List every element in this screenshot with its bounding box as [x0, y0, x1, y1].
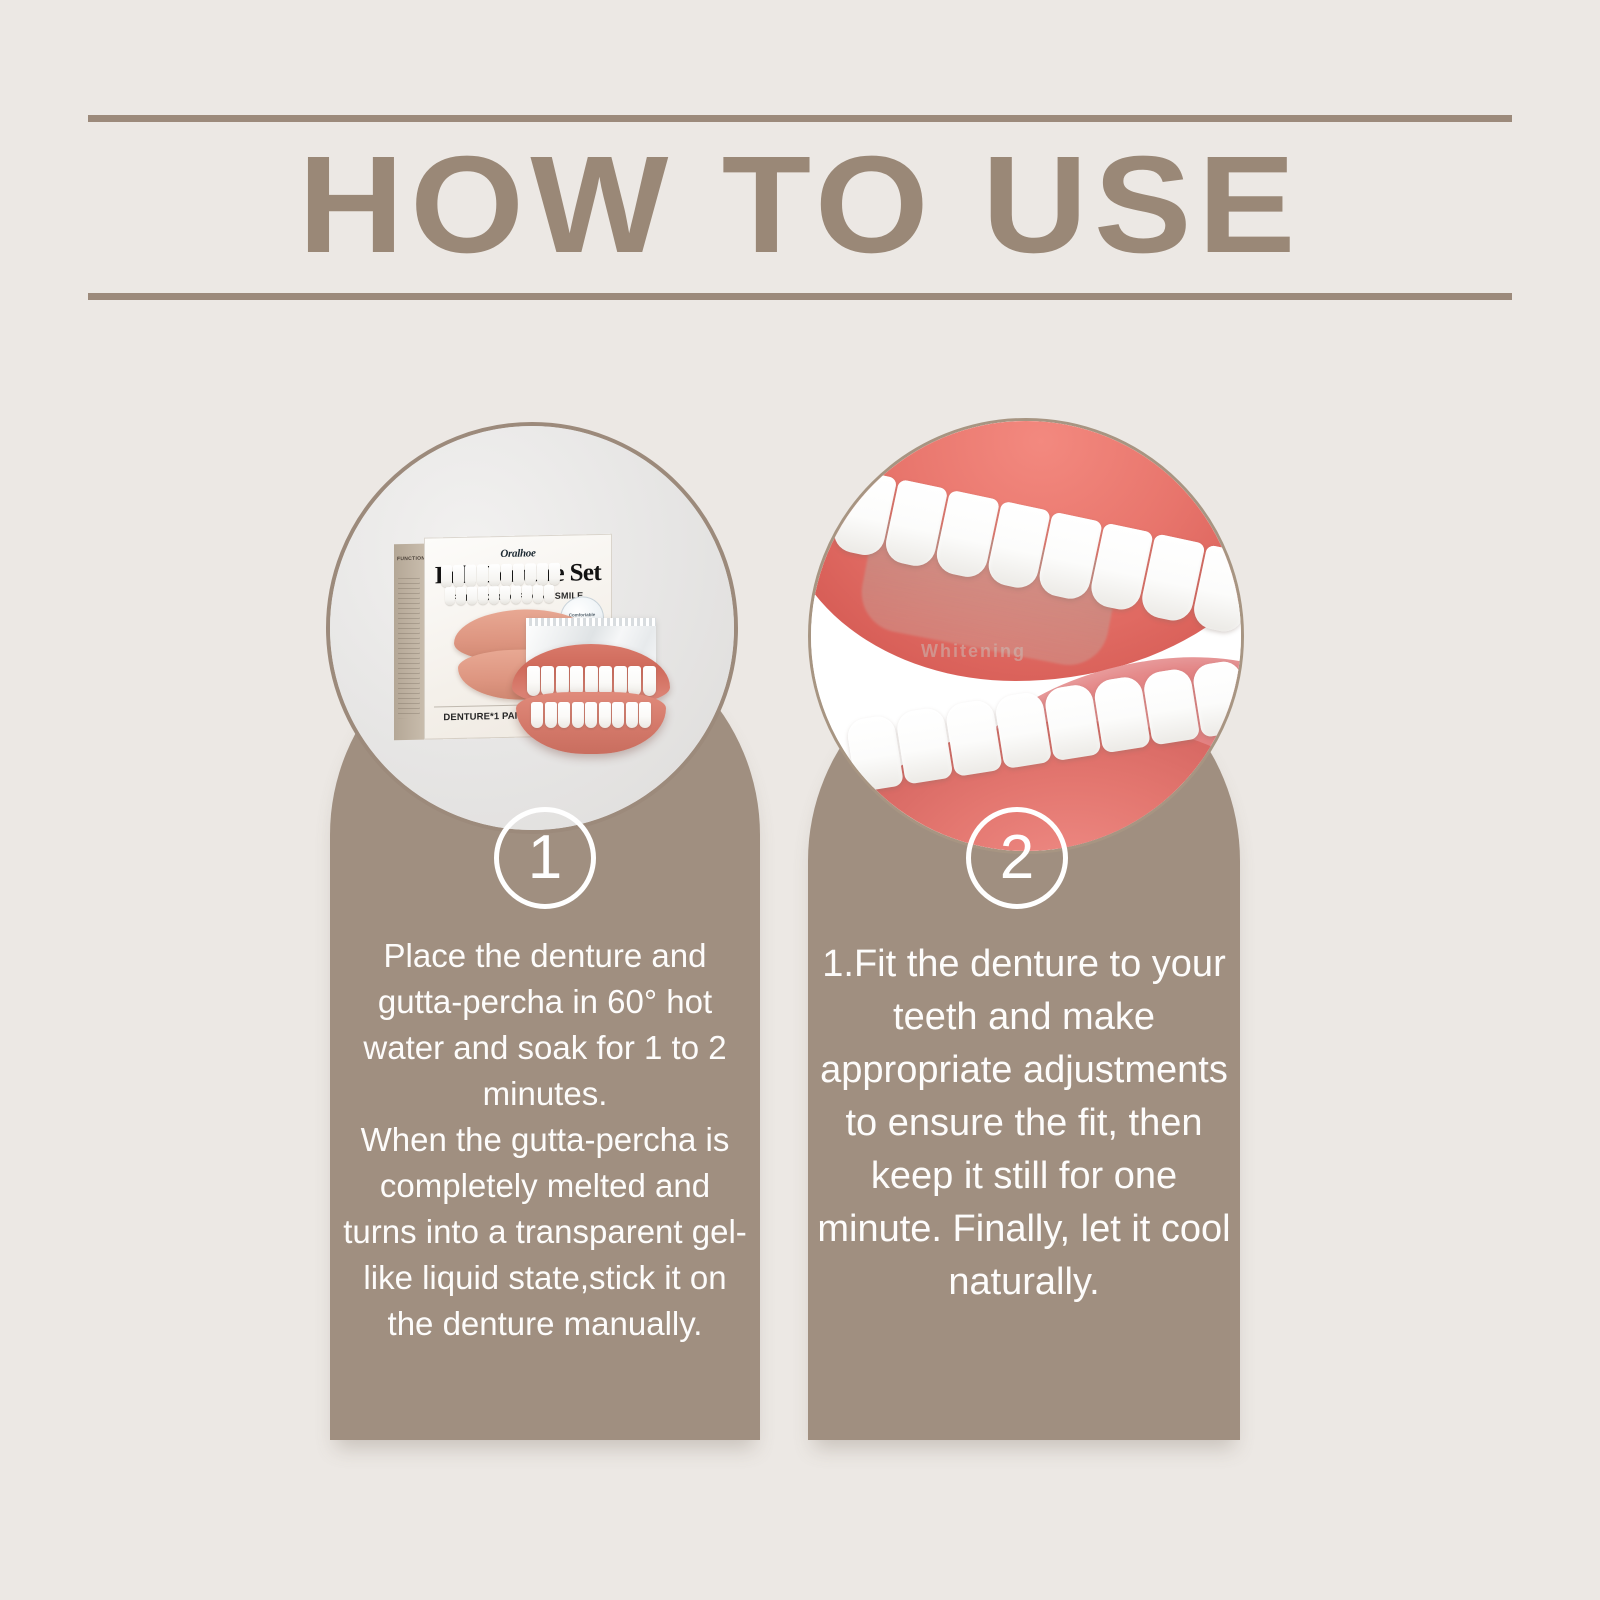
tooth: [545, 702, 557, 728]
tooth: [525, 563, 536, 585]
tooth: [1191, 659, 1244, 738]
tooth: [639, 702, 651, 728]
tooth: [895, 706, 954, 785]
tooth: [445, 587, 455, 605]
tooth: [467, 587, 477, 605]
tooth: [994, 690, 1053, 769]
lower-teeth-row: [442, 585, 556, 605]
tooth: [489, 586, 499, 604]
tooth: [643, 666, 656, 696]
step-number-badge-2: 2: [966, 807, 1068, 909]
tooth: [544, 585, 554, 603]
tooth: [549, 563, 560, 585]
tooth: [572, 702, 584, 728]
step-1-photo: FUNCTIONS Oralhoe Full Denture Set PERFE…: [326, 422, 738, 834]
tooth: [1092, 675, 1151, 754]
product-box-side-panel: FUNCTIONS: [394, 544, 424, 741]
step-2-description: 1.Fit the denture to your teeth and make…: [808, 938, 1240, 1309]
step-1-description: Place the denture and gutta-percha in 60…: [330, 933, 760, 1347]
tooth: [527, 666, 540, 696]
tooth: [453, 565, 464, 587]
tooth: [500, 586, 510, 604]
tooth: [558, 702, 570, 728]
tooth: [944, 698, 1003, 777]
tooth: [533, 585, 543, 603]
tooth: [513, 564, 524, 586]
tooth: [456, 587, 466, 605]
tooth: [489, 564, 500, 586]
tooth: [1043, 683, 1102, 762]
tooth: [501, 564, 512, 586]
tooth: [537, 563, 548, 585]
tooth: [531, 702, 543, 728]
lower-veneer-teeth: [524, 702, 658, 728]
product-box-side-text-lines: [398, 578, 420, 718]
tooth: [845, 714, 904, 793]
tooth: [477, 564, 488, 586]
tooth: [541, 666, 554, 696]
tooth: [1142, 667, 1201, 746]
step-2-photo: Whitening: [808, 418, 1244, 854]
tooth: [478, 586, 488, 604]
upper-teeth-row: [438, 563, 562, 588]
tooth: [612, 702, 624, 728]
tooth: [441, 565, 452, 587]
tooth: [628, 666, 641, 696]
tooth: [626, 702, 638, 728]
tooth: [465, 565, 476, 587]
step-number-badge-1: 1: [494, 807, 596, 909]
steps-container: FUNCTIONS Oralhoe Full Denture Set PERFE…: [0, 0, 1600, 1600]
tooth: [511, 586, 521, 604]
tooth: [522, 585, 532, 603]
product-box-side-label: FUNCTIONS: [397, 556, 421, 564]
tooth: [585, 702, 597, 728]
tooth: [599, 702, 611, 728]
